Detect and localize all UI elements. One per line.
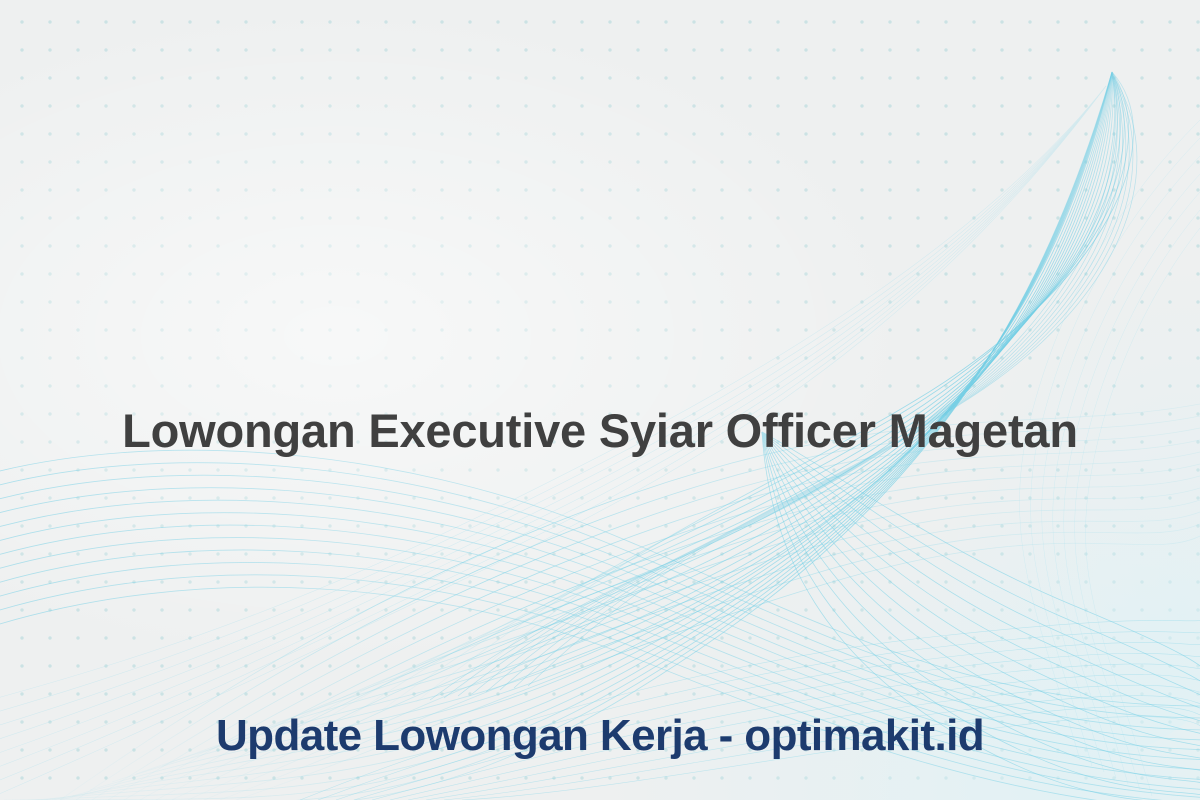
job-posting-banner: Lowongan Executive Syiar Officer Magetan…: [0, 0, 1200, 800]
site-branding-caption: Update Lowongan Kerja - optimakit.id: [0, 712, 1200, 760]
banner-content: Lowongan Executive Syiar Officer Magetan…: [0, 0, 1200, 800]
page-title: Lowongan Executive Syiar Officer Magetan: [0, 403, 1200, 458]
